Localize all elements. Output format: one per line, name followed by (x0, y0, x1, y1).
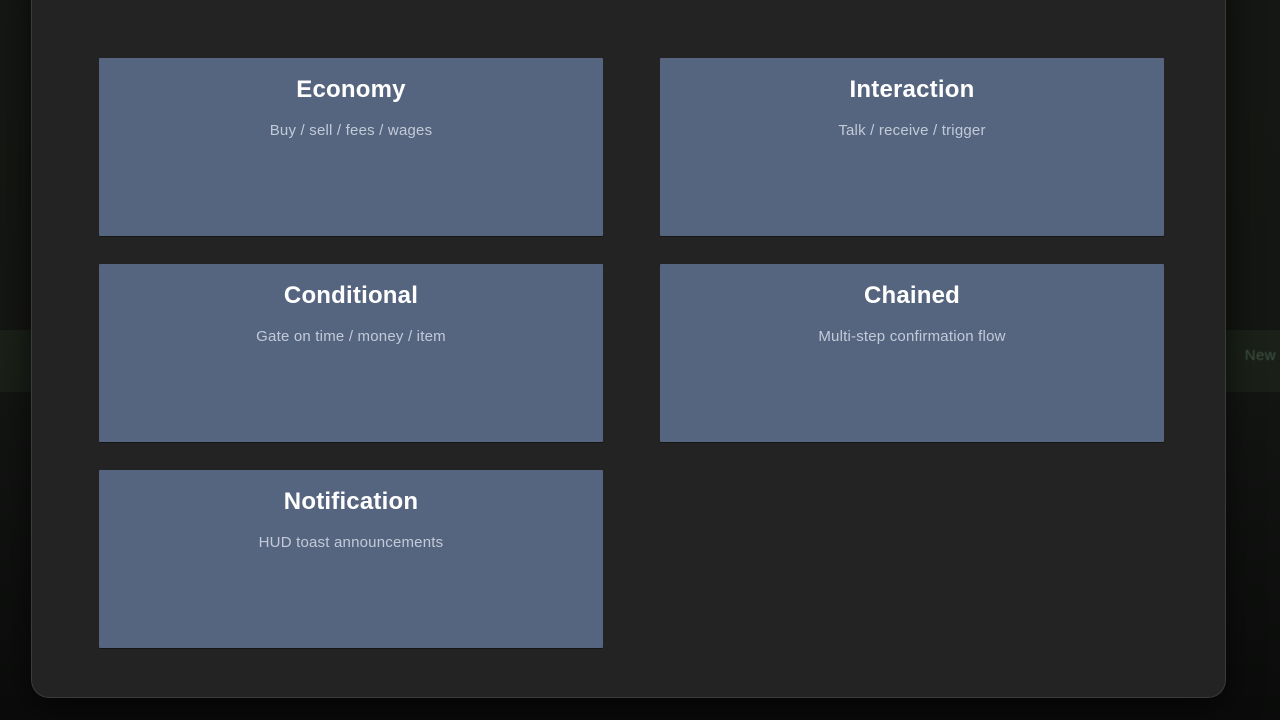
card-chained[interactable]: Chained Multi-step confirmation flow (660, 264, 1164, 442)
card-title: Notification (99, 487, 603, 517)
card-subtitle: Talk / receive / trigger (660, 121, 1164, 141)
card-subtitle: HUD toast announcements (99, 533, 603, 553)
card-subtitle: Buy / sell / fees / wages (99, 121, 603, 141)
card-subtitle: Gate on time / money / item (99, 327, 603, 347)
card-subtitle: Multi-step confirmation flow (660, 327, 1164, 347)
card-title: Economy (99, 75, 603, 105)
interaction-types-panel: Economy Buy / sell / fees / wages Intera… (31, 0, 1226, 698)
background-edge-label: New (1245, 347, 1276, 364)
card-notification[interactable]: Notification HUD toast announcements (99, 470, 603, 648)
card-conditional[interactable]: Conditional Gate on time / money / item (99, 264, 603, 442)
card-title: Chained (660, 281, 1164, 311)
card-economy[interactable]: Economy Buy / sell / fees / wages (99, 58, 603, 236)
card-title: Conditional (99, 281, 603, 311)
screen-root: New Economy Buy / sell / fees / wages In… (0, 0, 1280, 720)
card-title: Interaction (660, 75, 1164, 105)
card-grid: Economy Buy / sell / fees / wages Intera… (99, 58, 1164, 648)
card-interaction[interactable]: Interaction Talk / receive / trigger (660, 58, 1164, 236)
